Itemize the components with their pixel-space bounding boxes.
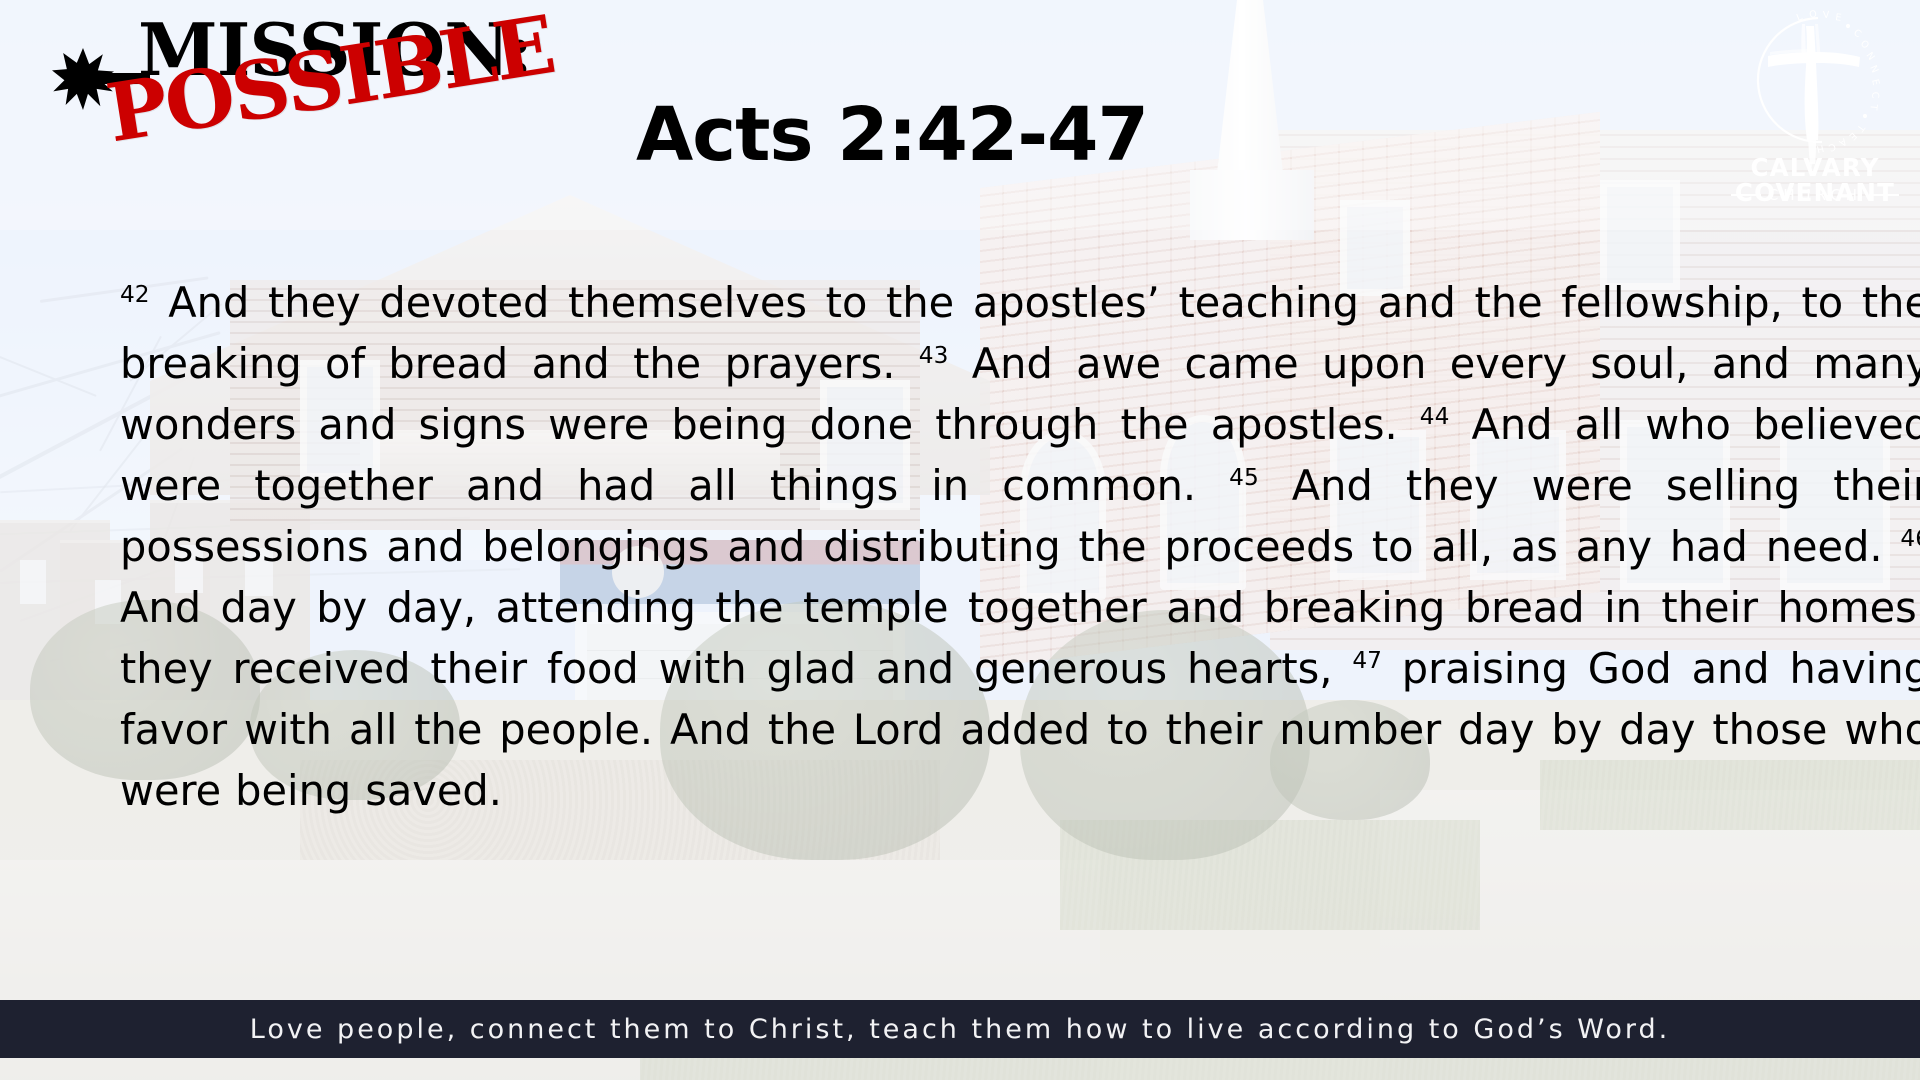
slide-title-text: Acts 2:42-47: [636, 92, 1148, 178]
svg-text:E: E: [1869, 78, 1882, 88]
svg-text:C: C: [1825, 140, 1837, 154]
verse-number: 46: [1900, 525, 1920, 552]
verse-number: 47: [1352, 647, 1382, 674]
logo-rule-right: [1869, 194, 1899, 196]
church-logo: L O V E C O N N E C T T E A C: [1722, 4, 1908, 214]
verse-number: 43: [919, 342, 949, 369]
svg-text:C: C: [1851, 27, 1864, 41]
slide-title: Acts 2:42-47: [0, 92, 1920, 178]
svg-text:A: A: [1835, 136, 1848, 150]
svg-text:E: E: [1835, 12, 1844, 24]
scripture-passage: 42 And they devoted themselves to the ap…: [120, 272, 1920, 821]
verse-number: 44: [1420, 403, 1450, 430]
sermon-slide: MISSION: POSSIBLE Acts 2:42-47: [0, 0, 1920, 1080]
logo-rule-left: [1731, 194, 1761, 196]
church-logo-name-line2: CHURCH: [1768, 186, 1862, 204]
svg-text:N: N: [1867, 64, 1881, 77]
svg-text:O: O: [1808, 8, 1820, 21]
svg-text:C: C: [1869, 91, 1881, 100]
tagline-bar: Love people, connect them to Christ, tea…: [0, 1000, 1920, 1058]
svg-text:V: V: [1823, 10, 1832, 21]
tagline-text: Love people, connect them to Christ, tea…: [250, 1014, 1670, 1045]
svg-text:T: T: [1867, 103, 1879, 113]
svg-text:O: O: [1858, 38, 1872, 53]
brush-cross-icon: [1768, 24, 1860, 170]
church-logo-name-line2-row: CHURCH: [1722, 186, 1908, 204]
verse-number: 45: [1229, 464, 1259, 491]
svg-text:N: N: [1864, 50, 1878, 64]
verse-number: 42: [120, 281, 150, 308]
